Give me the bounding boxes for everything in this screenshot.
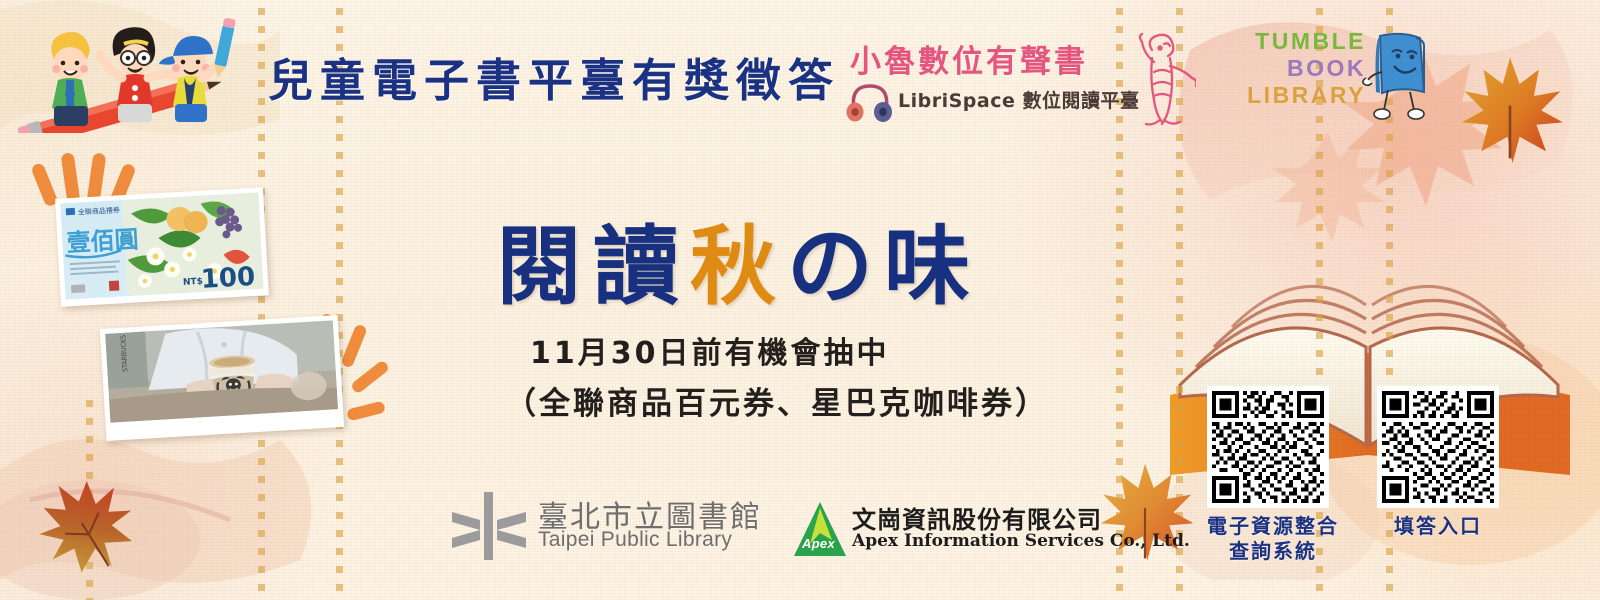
taipei-library-mark-icon [450, 490, 528, 562]
qr-label-line2: 查詢系統 [1207, 539, 1339, 564]
dotted-line-1 [258, 0, 265, 600]
answer-entry-qr-label: 填答入口 [1377, 514, 1499, 539]
children-riding-pencil-icon [18, 8, 248, 133]
coffee-image: STARBUCKS [105, 320, 338, 422]
apex-english: Apex Information Services Co., Ltd. [852, 531, 1190, 551]
hero-part-2: 秋 [690, 217, 787, 317]
tumblebook-line3: LIBRARY [1238, 82, 1366, 109]
electronic-resources-qr-block[interactable]: 電子資源整合 查詢系統 [1207, 386, 1339, 564]
maple-leaf-icon-bottomleft [28, 470, 138, 580]
taipei-library-english: Taipei Public Library [538, 528, 732, 552]
librispace-logo: 小魯數位有聲書 LibriSpace 數位閱讀平臺 [838, 36, 1188, 126]
answer-entry-qr-icon[interactable] [1377, 386, 1499, 508]
svg-text:100: 100 [200, 262, 256, 295]
maple-leaf-icon-topright [1450, 48, 1570, 168]
voucher-artwork: 全聯商品禮券 壹佰圓 NT$ 100 [60, 193, 263, 300]
taipei-library-logo: 臺北市立圖書館 Taipei Public Library [450, 490, 780, 565]
apex-logo: Apex 文崗資訊股份有限公司 Apex Information Service… [790, 500, 1090, 562]
hero-subtitle-line2: （全聯商品百元券、星巴克咖啡券） [505, 378, 1049, 423]
blue-book-character-icon [1358, 30, 1430, 122]
librispace-english-name: LibriSpace 數位閱讀平臺 [898, 86, 1139, 113]
librispace-mascot-icon [1130, 32, 1196, 128]
headphones-icon [846, 80, 894, 122]
coffee-artwork: STARBUCKS [105, 320, 338, 422]
librispace-chinese-name: 小魯數位有聲書 [850, 36, 1088, 81]
tumblebook-logo: TUMBLE BOOK LIBRARY [1238, 28, 1423, 123]
electronic-resources-qr-icon[interactable] [1207, 386, 1329, 508]
apex-chinese: 文崗資訊股份有限公司 [852, 500, 1102, 535]
tumblebook-line2: BOOK [1238, 55, 1366, 82]
electronic-resources-qr-label: 電子資源整合 查詢系統 [1207, 514, 1339, 564]
svg-text:壹佰圓: 壹佰圓 [66, 225, 139, 257]
answer-entry-qr-block[interactable]: 填答入口 [1377, 386, 1499, 539]
qr-label-line1: 填答入口 [1377, 514, 1499, 539]
voucher-image: 全聯商品禮券 壹佰圓 NT$ 100 [60, 193, 263, 300]
page-title: 兒童電子書平臺有獎徵答 [268, 44, 840, 109]
starbucks-coffee-photo: STARBUCKS [100, 315, 344, 441]
hero-part-1: 閱讀 [496, 217, 690, 317]
px-mart-voucher-photo: 全聯商品禮券 壹佰圓 NT$ 100 [55, 187, 269, 306]
hero-headline: 閱讀秋の味 [496, 196, 981, 321]
apex-wordmark: Apex [802, 536, 835, 551]
hero-subtitle-line1: 11月30日前有機會抽中 [530, 328, 890, 372]
tumblebook-line1: TUMBLE [1238, 28, 1366, 55]
qr-label-line1: 電子資源整合 [1207, 514, 1339, 539]
promotional-banner: 兒童電子書平臺有獎徵答 小魯數位有聲書 LibriSpace 數位閱讀平臺 [0, 0, 1600, 600]
hero-part-3: の味 [787, 217, 981, 317]
